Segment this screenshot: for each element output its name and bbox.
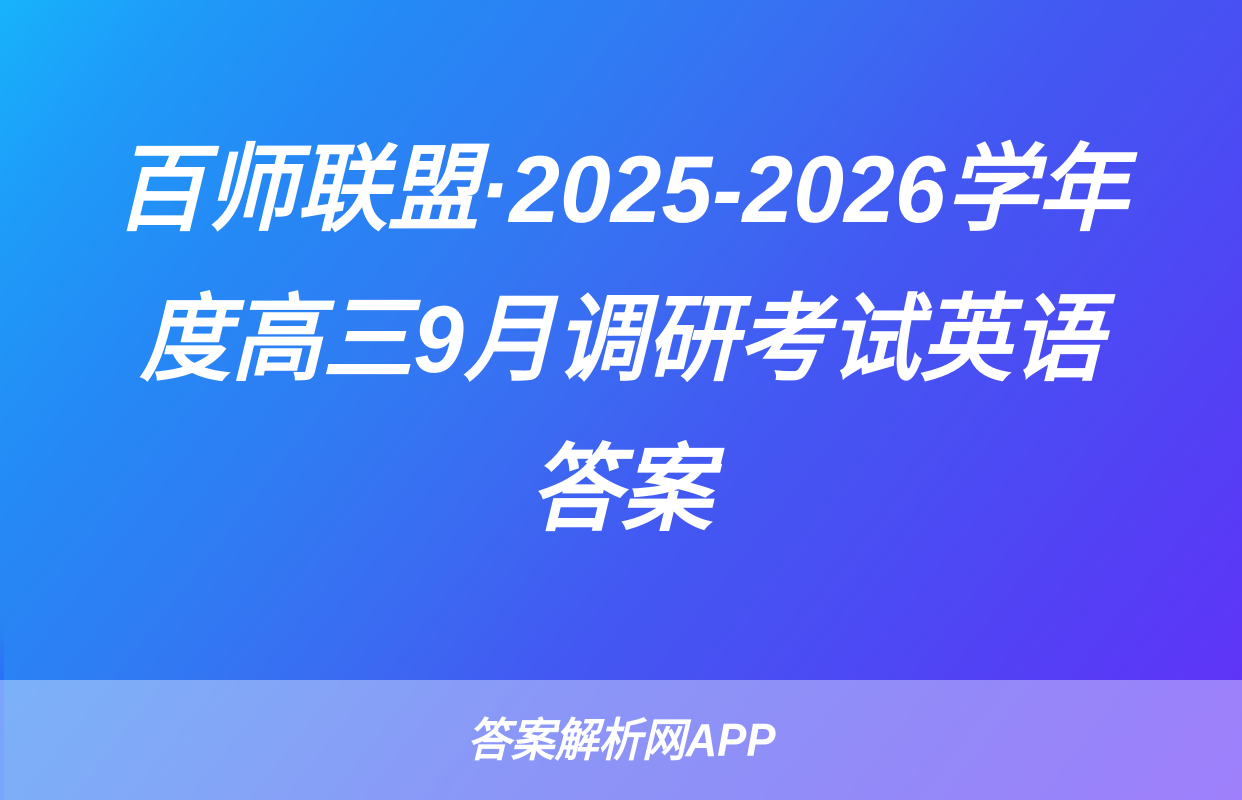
exam-answer-banner: 百师联盟·2025-2026学年度高三9月调研考试英语答案 答案解析网APP [0,0,1242,800]
title-area: 百师联盟·2025-2026学年度高三9月调研考试英语答案 [0,0,1242,680]
app-brand-label: 答案解析网APP [467,717,775,763]
page-title: 百师联盟·2025-2026学年度高三9月调研考试英语答案 [112,115,1130,565]
footer-band: 答案解析网APP [0,680,1242,800]
